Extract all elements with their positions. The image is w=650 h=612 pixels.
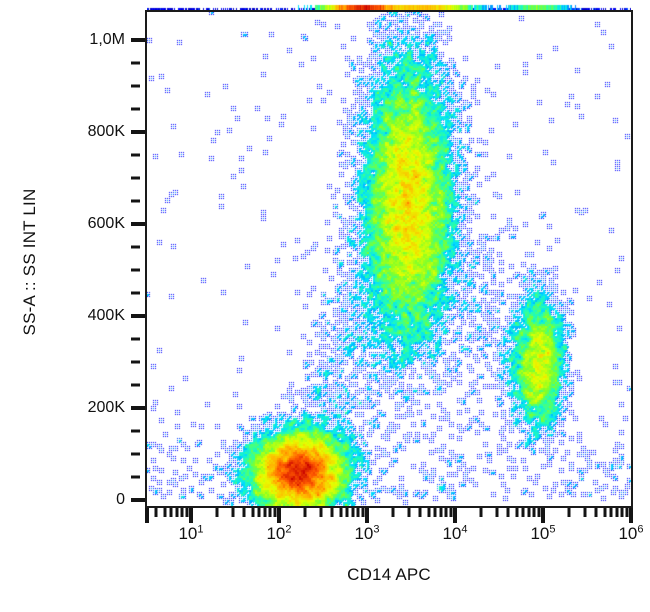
x-tick-minor [319, 508, 322, 517]
x-tick-minor [440, 508, 443, 517]
x-tick-minor [616, 508, 619, 517]
x-tick-minor [445, 508, 448, 517]
x-tick-minor [528, 508, 531, 517]
x-tick-label: 105 [530, 524, 555, 544]
x-tick-label: 101 [178, 524, 203, 544]
figure-area: 0200K400K600K800K1,0M 101102103104105106… [0, 0, 650, 612]
x-tick-minor [352, 508, 355, 517]
y-axis-title: SS-A :: SS INT LIN [20, 122, 40, 402]
x-axis-title: CD14 APC [145, 565, 633, 585]
y-tick-minor [131, 476, 140, 479]
x-tick-minor [231, 508, 234, 517]
x-tick-label: 103 [354, 524, 379, 544]
x-tick-mantissa: 10 [266, 524, 285, 543]
x-tick-minor [603, 508, 606, 517]
y-tick-label: 800K [35, 123, 125, 141]
y-tick-minor [131, 361, 140, 364]
y-tick-minor [131, 176, 140, 179]
x-tick-minor [625, 508, 628, 517]
x-tick-major [277, 508, 281, 523]
x-tick-minor [434, 508, 437, 517]
y-tick-major [131, 498, 145, 502]
y-tick-major [131, 130, 145, 134]
x-tick-mantissa: 10 [354, 524, 373, 543]
y-tick-minor [131, 269, 140, 272]
x-tick-minor [269, 508, 272, 517]
density-scatter-canvas[interactable] [147, 12, 631, 506]
y-tick-label: 400K [35, 307, 125, 325]
x-tick-major [365, 508, 369, 523]
y-tick-minor [131, 430, 140, 433]
x-tick-minor [427, 508, 430, 517]
y-tick-minor [131, 384, 140, 387]
x-tick-exponent: 5 [549, 523, 555, 535]
x-tick-exponent: 4 [461, 523, 467, 535]
plot-area[interactable] [145, 10, 633, 508]
y-tick-label: 1,0M [35, 31, 125, 49]
x-tick-major [629, 508, 633, 523]
x-tick-exponent: 3 [373, 523, 379, 535]
x-tick-minor [176, 508, 179, 517]
y-tick-minor [131, 199, 140, 202]
y-tick-minor [131, 453, 140, 456]
y-tick-minor [131, 107, 140, 110]
x-tick-minor [583, 508, 586, 517]
x-tick-minor [610, 508, 613, 517]
x-tick-label: 104 [442, 524, 467, 544]
y-tick-label: 200K [35, 399, 125, 417]
x-tick-minor [392, 508, 395, 517]
x-tick-minor [330, 508, 333, 517]
x-tick-minor [154, 508, 157, 517]
y-tick-minor [131, 84, 140, 87]
x-tick-minor [216, 508, 219, 517]
x-tick-mantissa: 10 [178, 524, 197, 543]
x-tick-minor [621, 508, 624, 517]
x-tick-minor [357, 508, 360, 517]
x-tick-minor [407, 508, 410, 517]
x-tick-minor [273, 508, 276, 517]
x-tick-minor [242, 508, 245, 517]
x-tick-minor [480, 508, 483, 517]
y-tick-major [131, 222, 145, 226]
x-tick-minor [170, 508, 173, 517]
x-tick-minor [537, 508, 540, 517]
x-tick-minor [568, 508, 571, 517]
x-tick-label: 102 [266, 524, 291, 544]
x-tick-minor [258, 508, 261, 517]
x-tick-label: 106 [618, 524, 643, 544]
x-tick-mantissa: 10 [618, 524, 637, 543]
x-tick-minor [181, 508, 184, 517]
y-tick-minor [131, 61, 140, 64]
x-tick-minor [264, 508, 267, 517]
y-tick-minor [131, 246, 140, 249]
x-tick-minor [251, 508, 254, 517]
x-tick-major [189, 508, 193, 523]
x-tick-minor [533, 508, 536, 517]
x-tick-minor [522, 508, 525, 517]
x-tick-minor [339, 508, 342, 517]
x-tick-minor [418, 508, 421, 517]
x-tick-minor [163, 508, 166, 517]
x-tick-exponent: 6 [637, 523, 643, 535]
y-tick-label: 600K [35, 215, 125, 233]
x-tick-minor [594, 508, 597, 517]
y-tick-major [131, 314, 145, 318]
x-tick-major [453, 508, 457, 523]
y-tick-label: 0 [35, 491, 125, 509]
y-tick-minor [131, 153, 140, 156]
x-tick-minor [185, 508, 188, 517]
y-tick-minor [131, 338, 140, 341]
x-tick-mantissa: 10 [442, 524, 461, 543]
x-tick-minor [304, 508, 307, 517]
y-tick-major [131, 38, 145, 42]
y-tick-minor [131, 292, 140, 295]
x-tick-minor [506, 508, 509, 517]
flow-cytometry-figure: 0200K400K600K800K1,0M 101102103104105106… [0, 0, 650, 612]
x-axis-origin-tick [145, 508, 149, 523]
x-tick-mantissa: 10 [530, 524, 549, 543]
x-tick-minor [449, 508, 452, 517]
x-tick-minor [515, 508, 518, 517]
x-axis-tick-labels: 101102103104105106 [0, 524, 650, 564]
x-tick-minor [361, 508, 364, 517]
x-tick-exponent: 1 [197, 523, 203, 535]
y-tick-major [131, 406, 145, 410]
x-tick-exponent: 2 [285, 523, 291, 535]
x-tick-major [541, 508, 545, 523]
x-tick-minor [346, 508, 349, 517]
x-tick-minor [495, 508, 498, 517]
